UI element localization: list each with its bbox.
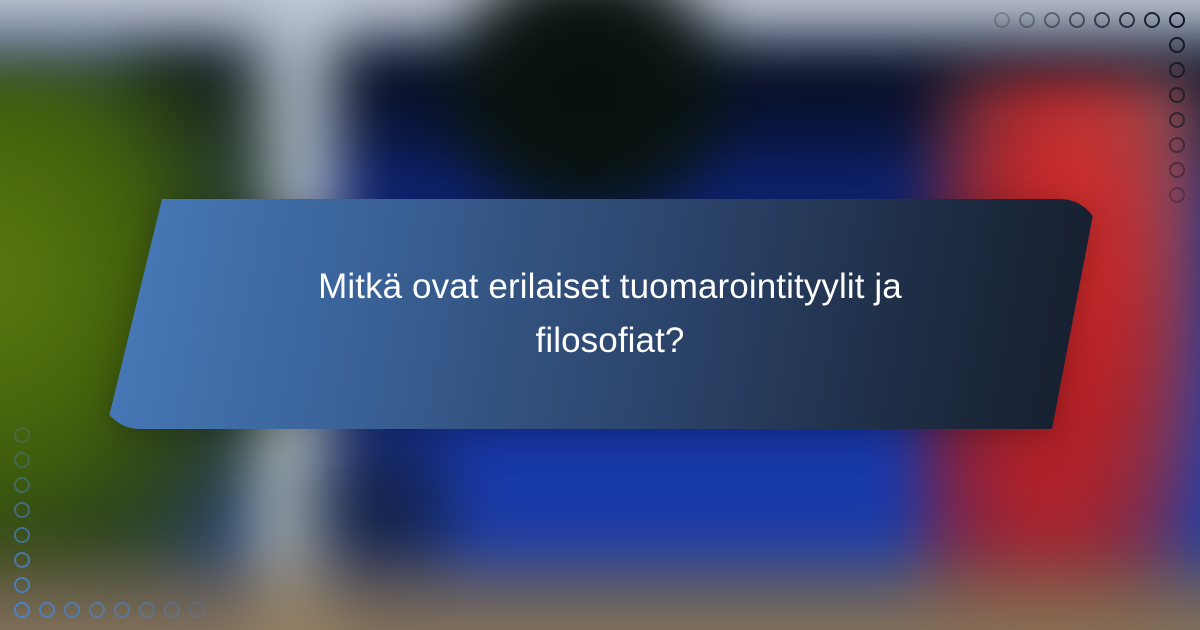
decor-ring <box>14 452 30 468</box>
decor-ring <box>14 577 30 593</box>
share-card-canvas: Mitkä ovat erilaiset tuomarointityylit j… <box>0 0 1200 630</box>
question-text: Mitkä ovat erilaiset tuomarointityylit j… <box>100 199 1100 429</box>
decor-ring <box>14 427 30 443</box>
decor-ring <box>114 602 130 618</box>
decor-ring <box>139 602 155 618</box>
decor-ring <box>189 602 205 618</box>
question-card: Mitkä ovat erilaiset tuomarointityylit j… <box>100 199 1100 429</box>
decor-ring <box>14 527 30 543</box>
decor-ring <box>14 502 30 518</box>
decor-ring <box>89 602 105 618</box>
decor-ring <box>14 552 30 568</box>
decor-ring <box>64 602 80 618</box>
decor-ring <box>14 602 30 618</box>
decor-ring <box>39 602 55 618</box>
decor-ring <box>164 602 180 618</box>
decor-ring <box>14 477 30 493</box>
